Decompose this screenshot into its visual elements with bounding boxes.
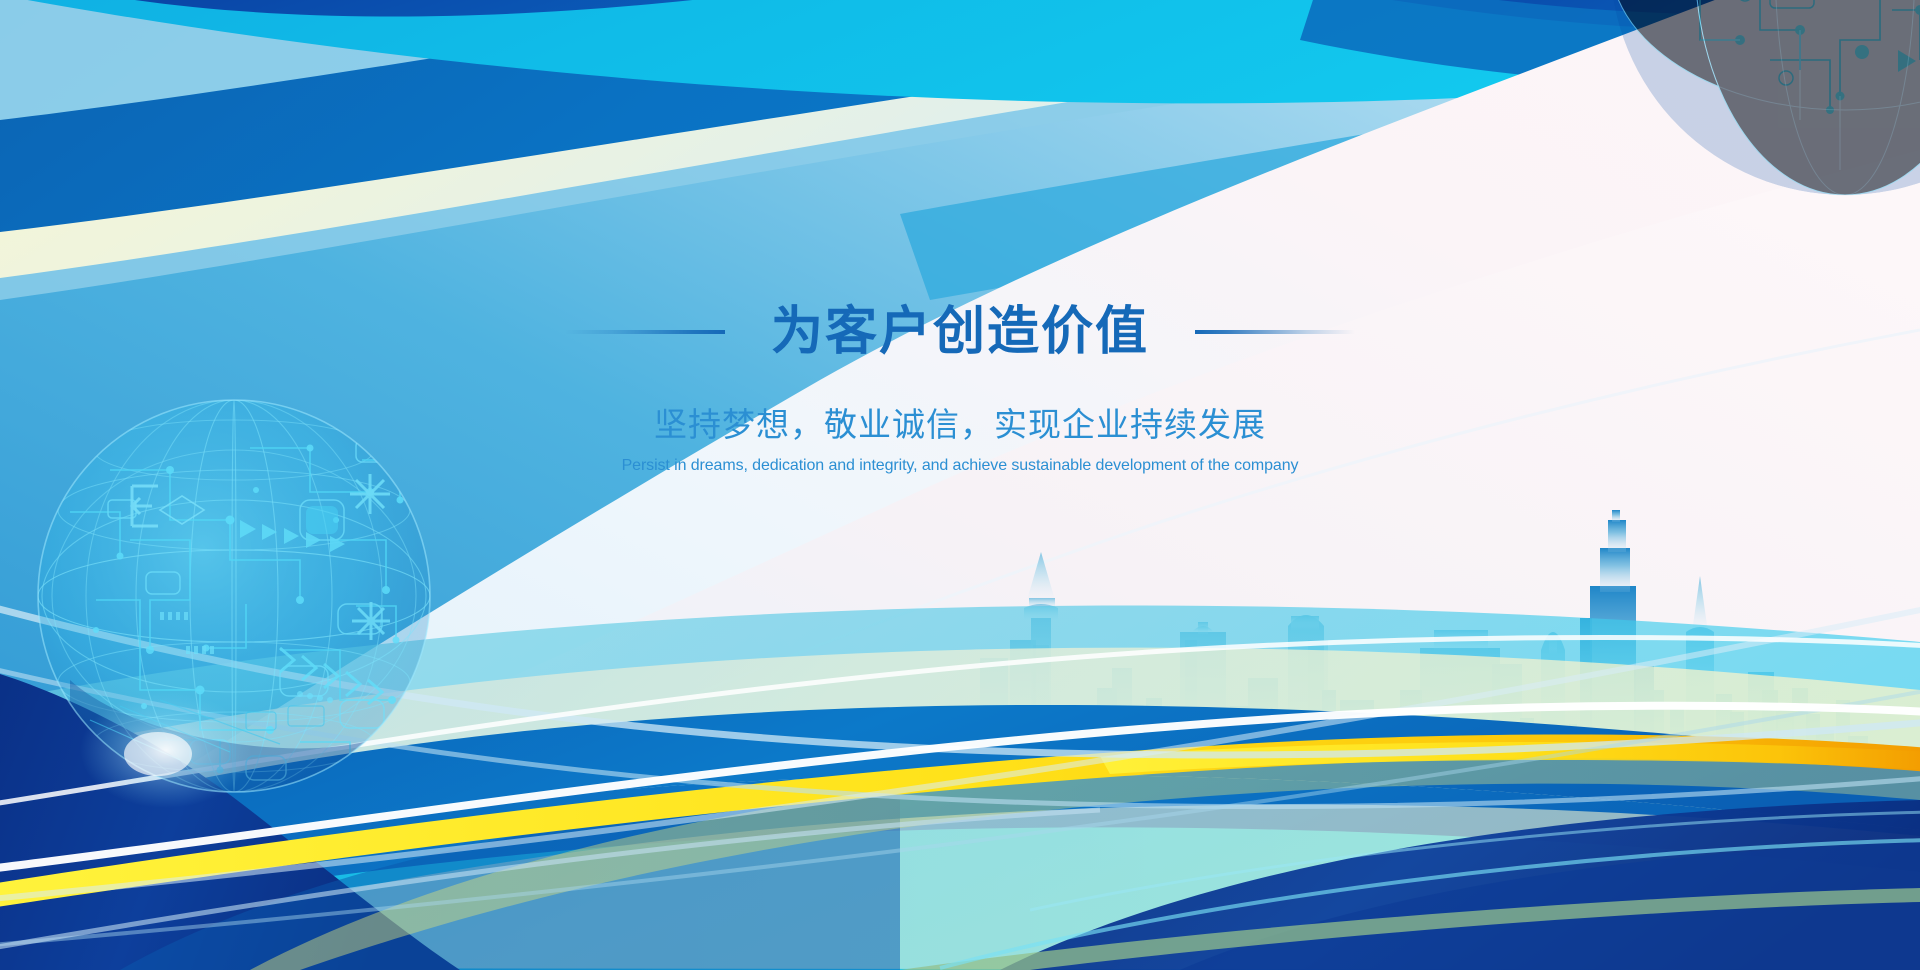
background-artwork xyxy=(0,0,1920,970)
banner-canvas: 为客户创造价值 坚持梦想，敬业诚信，实现企业持续发展 Persist in dr… xyxy=(0,0,1920,970)
